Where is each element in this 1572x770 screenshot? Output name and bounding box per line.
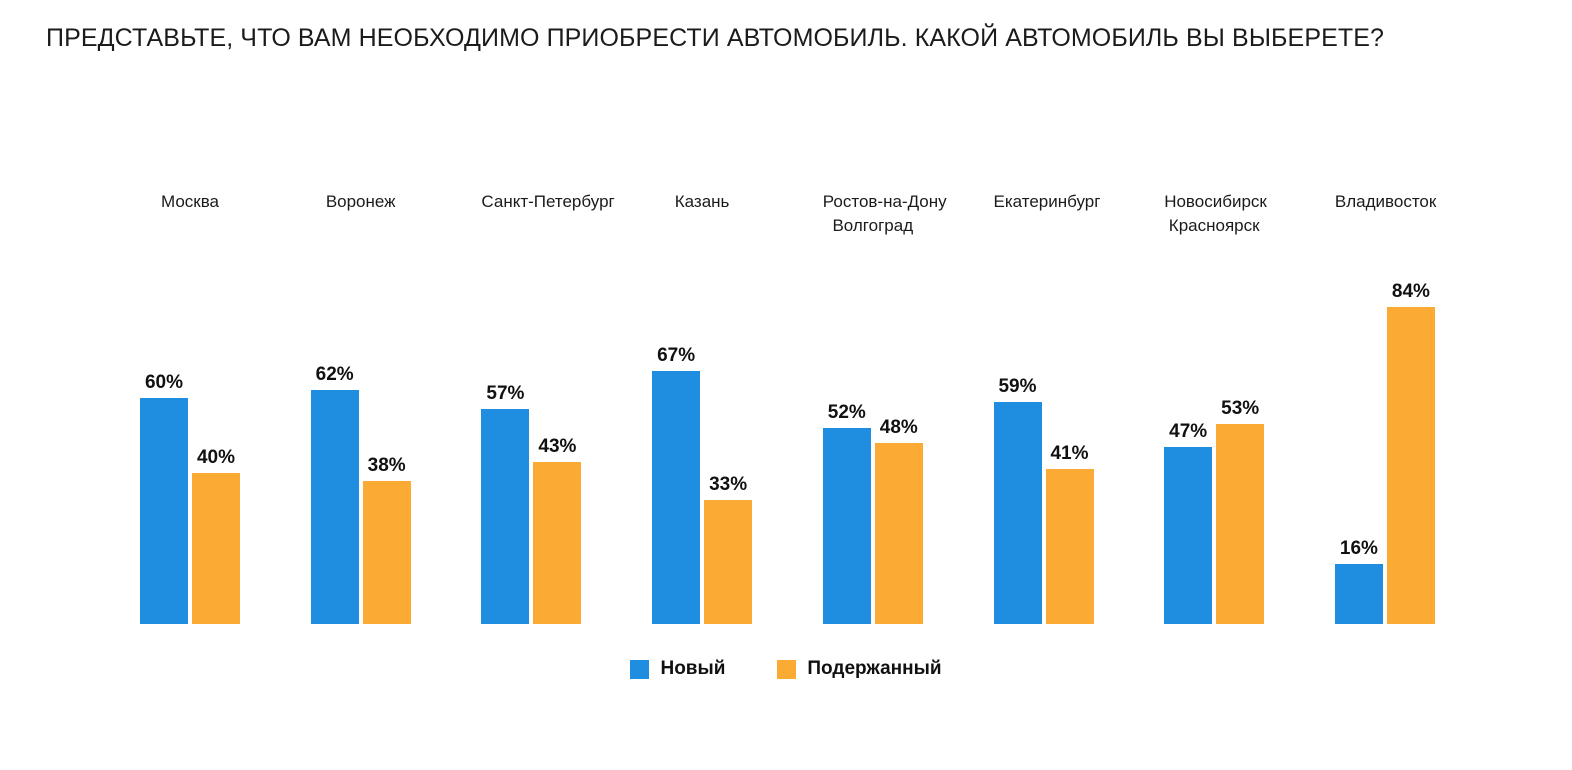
legend-swatch-icon [777, 660, 796, 679]
bar-group: Москва60%40% [140, 190, 240, 630]
bar-value-label: 47% [1150, 421, 1226, 443]
bar-used[interactable] [704, 500, 752, 624]
bar-group: Владивосток16%84% [1335, 190, 1435, 630]
bar-group: Воронеж62%38% [311, 190, 411, 630]
bar-value-label: 60% [126, 372, 202, 394]
bar-new[interactable] [994, 402, 1042, 624]
bar-new[interactable] [652, 371, 700, 624]
bar-group: Ростов-на-ДонуВолгоград52%48% [823, 190, 923, 630]
bar-group: Екатеринбург59%41% [994, 190, 1094, 630]
legend-label: Новый [660, 658, 725, 680]
legend-swatch-icon [630, 660, 649, 679]
bar-used[interactable] [1216, 424, 1264, 624]
bar-group-bars: 52%48% [823, 190, 923, 624]
bar-group-bars: 59%41% [994, 190, 1094, 624]
bar-group-bars: 47%53% [1164, 190, 1264, 624]
bar-value-label: 48% [861, 417, 937, 439]
bar-used[interactable] [875, 443, 923, 624]
bar-new[interactable] [311, 390, 359, 624]
bar-group: Санкт-Петербург57%43% [481, 190, 581, 630]
bar-value-label: 33% [690, 474, 766, 496]
bar-used[interactable] [192, 473, 240, 624]
chart-legend: НовыйПодержанный [0, 658, 1572, 680]
bar-chart-plot-area: Москва60%40%Воронеж62%38%Санкт-Петербург… [0, 0, 1572, 770]
bar-new[interactable] [140, 398, 188, 624]
legend-item[interactable]: Подержанный [777, 658, 941, 680]
bar-value-label: 38% [349, 455, 425, 477]
bar-group-bars: 57%43% [481, 190, 581, 624]
bar-value-label: 62% [297, 364, 373, 386]
bar-group: НовосибирскКрасноярск47%53% [1164, 190, 1264, 630]
bar-group-bars: 60%40% [140, 190, 240, 624]
bar-value-label: 43% [519, 436, 595, 458]
bar-value-label: 16% [1321, 538, 1397, 560]
bar-group-bars: 67%33% [652, 190, 752, 624]
bar-group: Казань67%33% [652, 190, 752, 630]
legend-item[interactable]: Новый [630, 658, 725, 680]
bar-value-label: 84% [1373, 281, 1449, 303]
bar-new[interactable] [823, 428, 871, 624]
bar-value-label: 57% [467, 383, 543, 405]
bar-new[interactable] [1164, 447, 1212, 624]
bar-group-bars: 62%38% [311, 190, 411, 624]
bar-used[interactable] [533, 462, 581, 624]
bar-value-label: 59% [980, 376, 1056, 398]
bar-value-label: 41% [1032, 443, 1108, 465]
bar-used[interactable] [363, 481, 411, 624]
bar-value-label: 53% [1202, 398, 1278, 420]
bar-used[interactable] [1046, 469, 1094, 624]
legend-label: Подержанный [807, 658, 941, 680]
bar-new[interactable] [1335, 564, 1383, 624]
bar-value-label: 67% [638, 345, 714, 367]
bar-value-label: 40% [178, 447, 254, 469]
bar-used[interactable] [1387, 307, 1435, 624]
bar-group-bars: 16%84% [1335, 190, 1435, 624]
